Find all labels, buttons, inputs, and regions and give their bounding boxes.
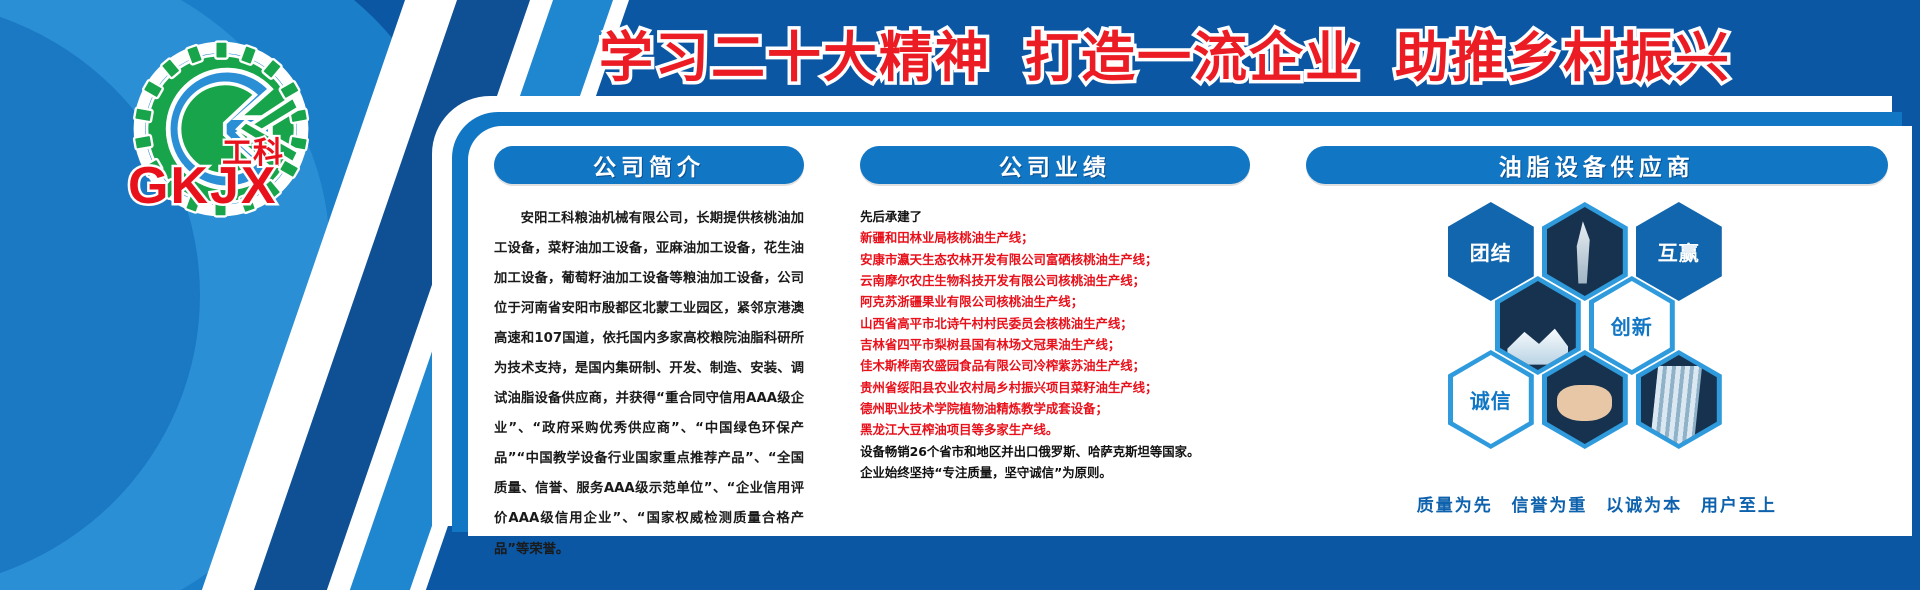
slogan-part-1: 质量为先	[1417, 496, 1493, 515]
list-item: 安康市瀛天生态农林开发有限公司富硒核桃油生产线；	[860, 249, 1250, 270]
list-item: 新疆和田林业局核桃油生产线；	[860, 227, 1250, 248]
panel-company-intro: 公司简介 安阳工科粮油机械有限公司，长期提供核桃油加工设备，菜籽油加工设备，亚麻…	[480, 128, 818, 532]
list-item: 吉林省四平市梨树县国有林场文冠果油生产线；	[860, 334, 1250, 355]
panel-title-supplier-label: 油脂设备供应商	[1499, 148, 1695, 182]
panel-divider-2	[1264, 128, 1292, 532]
panel-divider-1	[818, 128, 846, 532]
panel-supplier: 油脂设备供应商 团结 互赢	[1292, 128, 1902, 532]
list-item: 阿克苏浙疆果业有限公司核桃油生产线；	[860, 291, 1250, 312]
panel-company-performance: 公司业绩 先后承建了 新疆和田林业局核桃油生产线； 安康市瀛天生态农林开发有限公…	[846, 128, 1264, 532]
headline-part-3: 助推乡村振兴	[1395, 13, 1731, 92]
headline-part-1: 学习二十大精神	[599, 13, 991, 92]
panel-title-performance-label: 公司业绩	[999, 148, 1111, 182]
list-item: 山西省高平市北诗午村村民委员会核桃油生产线；	[860, 313, 1250, 334]
slogan-part-3: 以诚为本	[1606, 496, 1682, 515]
panel-title-intro-label: 公司简介	[593, 148, 705, 182]
performance-lead: 先后承建了	[860, 206, 1250, 227]
list-item: 德州职业技术学院植物油精炼教学成套设备；	[860, 398, 1250, 419]
supplier-slogan: 质量为先 信誉为重 以诚为本 用户至上	[1292, 491, 1902, 516]
slogan-part-4: 用户至上	[1701, 496, 1777, 515]
content-panels: 公司简介 安阳工科粮油机械有限公司，长期提供核桃油加工设备，菜籽油加工设备，亚麻…	[480, 128, 1902, 532]
performance-footer-2: 企业始终坚持“专注质量，坚守诚信”为原则。	[860, 462, 1250, 483]
company-intro-text: 安阳工科粮油机械有限公司，长期提供核桃油加工设备，菜籽油加工设备，亚麻油加工设备…	[494, 204, 804, 565]
list-item: 云南摩尔农庄生物科技开发有限公司核桃油生产线；	[860, 270, 1250, 291]
performance-list: 先后承建了 新疆和田林业局核桃油生产线； 安康市瀛天生态农林开发有限公司富硒核桃…	[860, 206, 1250, 483]
panel-title-performance: 公司业绩	[860, 146, 1250, 184]
performance-footer-1: 设备畅销26个省市和地区并出口俄罗斯、哈萨克斯坦等国家。	[860, 441, 1250, 462]
slogan-part-2: 信誉为重	[1511, 496, 1587, 515]
list-item: 贵州省绥阳县农业农村局乡村振兴项目菜籽油生产线；	[860, 377, 1250, 398]
panel-title-supplier: 油脂设备供应商	[1306, 146, 1888, 184]
headline-part-2: 打造一流企业	[1025, 13, 1361, 92]
panel-title-intro: 公司简介	[494, 146, 804, 184]
hexagon-grid: 团结 互赢 创新	[1432, 194, 1762, 430]
list-item: 佳木斯桦南农盛园食品有限公司冷榨紫苏油生产线；	[860, 355, 1250, 376]
list-item: 黑龙江大豆榨油项目等多家生产线。	[860, 419, 1250, 440]
logo-en-text: GKJX	[128, 156, 278, 216]
page-title: 学习二十大精神 打造一流企业 助推乡村振兴	[430, 14, 1900, 90]
poster-board: 工科 GKJX 学习二十大精神 打造一流企业 助推乡村振兴 公司简介 安阳工科粮…	[0, 0, 1920, 590]
